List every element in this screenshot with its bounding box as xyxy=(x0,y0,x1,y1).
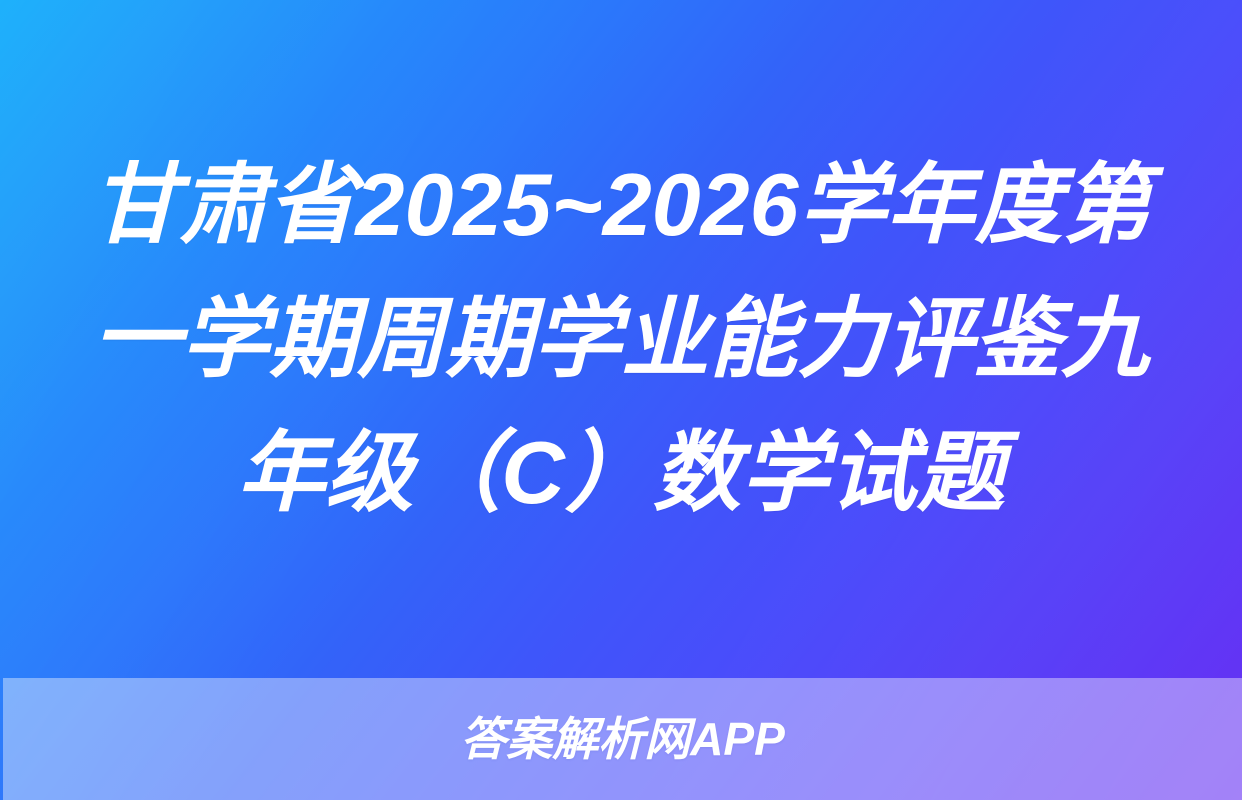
title-card: 甘肃省2025~2026学年度第一学期周期学业能力评鉴九年级（C）数学试题 答案… xyxy=(0,0,1242,800)
title-container: 甘肃省2025~2026学年度第一学期周期学业能力评鉴九年级（C）数学试题 xyxy=(0,0,1242,678)
footer-app-label: 答案解析网APP xyxy=(460,716,785,762)
footer-watermark-band: 答案解析网APP xyxy=(3,678,1242,800)
page-title: 甘肃省2025~2026学年度第一学期周期学业能力评鉴九年级（C）数学试题 xyxy=(74,138,1168,539)
